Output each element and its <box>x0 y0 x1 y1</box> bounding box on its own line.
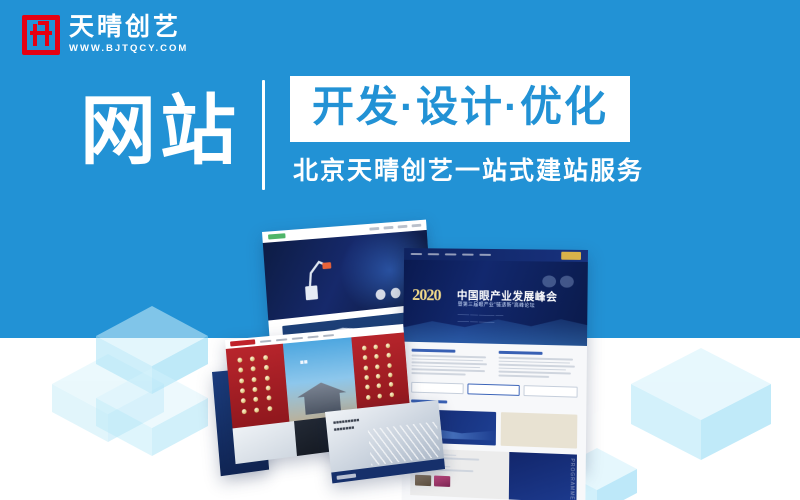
promo-banner: 天晴创艺 WWW.BJTQCY.COM 网站 开发·设计·优化 北京天晴创艺一站… <box>0 0 800 500</box>
headline-right-column: 开发·设计·优化 北京天晴创艺一站式建站服务 <box>290 76 644 190</box>
summit-hero-meta: ——— —— ———— ————— —— ———— <box>458 311 504 325</box>
summit-hero-year: 2020 <box>412 285 441 305</box>
robot-arm-icon <box>288 247 352 304</box>
red-gate-logo-icon <box>230 339 255 346</box>
headline-keyword: 网站 <box>80 76 240 190</box>
mockup-logo-icon <box>268 233 286 239</box>
website-mockup-collage: 2020 中国眼产业发展峰会 暨第三届眼产业“链适新”高峰论坛 ——— —— —… <box>230 222 600 477</box>
cube-right-big <box>626 342 776 468</box>
mockup-nav <box>369 224 421 230</box>
brand-logo[interactable]: 天晴创艺 WWW.BJTQCY.COM <box>22 14 188 55</box>
summit-programme-label: PROGRAMME <box>569 458 575 500</box>
summit-badge <box>561 252 581 260</box>
tqcy-square-logo-icon <box>22 15 60 55</box>
red-gate-wordmark: ■■ <box>300 359 308 367</box>
brand-name: 天晴创艺 <box>69 14 188 41</box>
summit-hero: 2020 中国眼产业发展峰会 暨第三届眼产业“链适新”高峰论坛 ——— —— —… <box>403 260 588 346</box>
product-card-title: ■■■■■■■■■■■■■■■■ <box>333 417 361 434</box>
summit-hero-subtitle: 暨第三届眼产业“链适新”高峰论坛 <box>458 301 535 309</box>
headline-highlight-text: 开发·设计·优化 <box>312 81 608 133</box>
headline-subtitle: 北京天晴创艺一站式建站服务 <box>293 154 644 188</box>
headline-block: 网站 开发·设计·优化 北京天晴创艺一站式建站服务 <box>80 76 644 190</box>
mockup-grey-product-card: ■■■■■■■■■■■■■■■■ <box>325 400 445 484</box>
red-door-right <box>351 332 410 413</box>
summit-buttons <box>411 381 577 397</box>
headline-highlight-box: 开发·设计·优化 <box>290 76 630 142</box>
cube-left-front <box>92 362 212 462</box>
headline-divider <box>262 80 265 190</box>
brand-logo-text: 天晴创艺 WWW.BJTQCY.COM <box>69 14 188 55</box>
brand-website-url: WWW.BJTQCY.COM <box>69 42 188 55</box>
red-door-left <box>226 344 290 429</box>
